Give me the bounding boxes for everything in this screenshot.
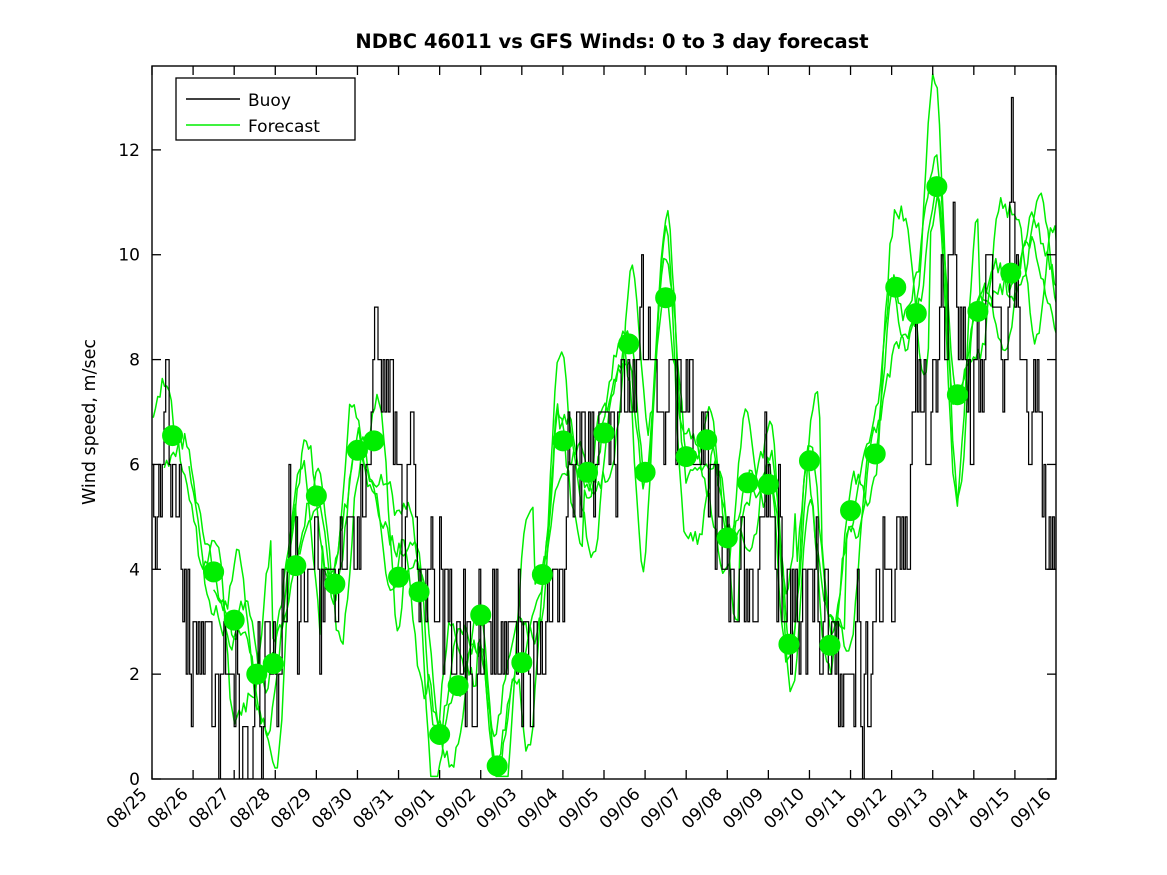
forecast-mean-marker xyxy=(799,451,819,471)
forecast-mean-marker xyxy=(471,605,491,625)
forecast-mean-marker xyxy=(865,444,885,464)
forecast-mean-marker xyxy=(619,334,639,354)
forecast-mean-marker xyxy=(286,556,306,576)
forecast-mean-marker xyxy=(927,177,947,197)
forecast-mean-marker xyxy=(409,582,429,602)
forecast-mean-marker xyxy=(886,277,906,297)
legend-label-forecast: Forecast xyxy=(248,117,320,137)
chart-title: NDBC 46011 vs GFS Winds: 0 to 3 day fore… xyxy=(355,30,868,53)
forecast-mean-marker xyxy=(656,288,676,308)
forecast-mean-marker xyxy=(697,430,717,450)
forecast-mean-marker xyxy=(532,565,552,585)
y-tick-label: 2 xyxy=(129,665,140,685)
forecast-mean-marker xyxy=(204,562,224,582)
forecast-mean-marker xyxy=(553,431,573,451)
forecast-mean-marker xyxy=(306,486,326,506)
forecast-mean-marker xyxy=(163,426,183,446)
forecast-mean-marker xyxy=(512,653,532,673)
y-axis-label: Wind speed, m/sec xyxy=(80,339,100,505)
y-tick-label: 10 xyxy=(118,246,140,266)
forecast-mean-marker xyxy=(758,474,778,494)
forecast-mean-marker xyxy=(364,431,384,451)
y-tick-label: 6 xyxy=(129,455,140,475)
y-tick-label: 4 xyxy=(129,560,140,580)
forecast-mean-marker xyxy=(487,756,507,776)
forecast-mean-marker xyxy=(947,385,967,405)
forecast-mean-marker xyxy=(263,654,283,674)
forecast-mean-marker xyxy=(676,447,696,467)
forecast-mean-marker xyxy=(1001,263,1021,283)
y-tick-label: 12 xyxy=(118,141,140,161)
forecast-mean-marker xyxy=(224,610,244,630)
forecast-mean-marker xyxy=(779,634,799,654)
forecast-mean-marker xyxy=(820,635,840,655)
forecast-mean-marker xyxy=(717,528,737,548)
forecast-mean-marker xyxy=(968,301,988,321)
forecast-mean-marker xyxy=(389,567,409,587)
wind-speed-chart: NDBC 46011 vs GFS Winds: 0 to 3 day fore… xyxy=(0,0,1167,875)
y-tick-label: 8 xyxy=(129,351,140,371)
forecast-mean-marker xyxy=(841,501,861,521)
legend: Buoy Forecast xyxy=(176,78,355,140)
forecast-mean-marker xyxy=(738,473,758,493)
legend-label-buoy: Buoy xyxy=(248,91,291,111)
forecast-mean-marker xyxy=(635,462,655,482)
forecast-mean-marker xyxy=(906,303,926,323)
forecast-mean-marker xyxy=(578,462,598,482)
forecast-mean-marker xyxy=(430,724,450,744)
forecast-mean-marker xyxy=(448,676,468,696)
forecast-mean-marker xyxy=(594,423,614,443)
figure-root: NDBC 46011 vs GFS Winds: 0 to 3 day fore… xyxy=(0,0,1167,875)
forecast-mean-marker xyxy=(325,574,345,594)
